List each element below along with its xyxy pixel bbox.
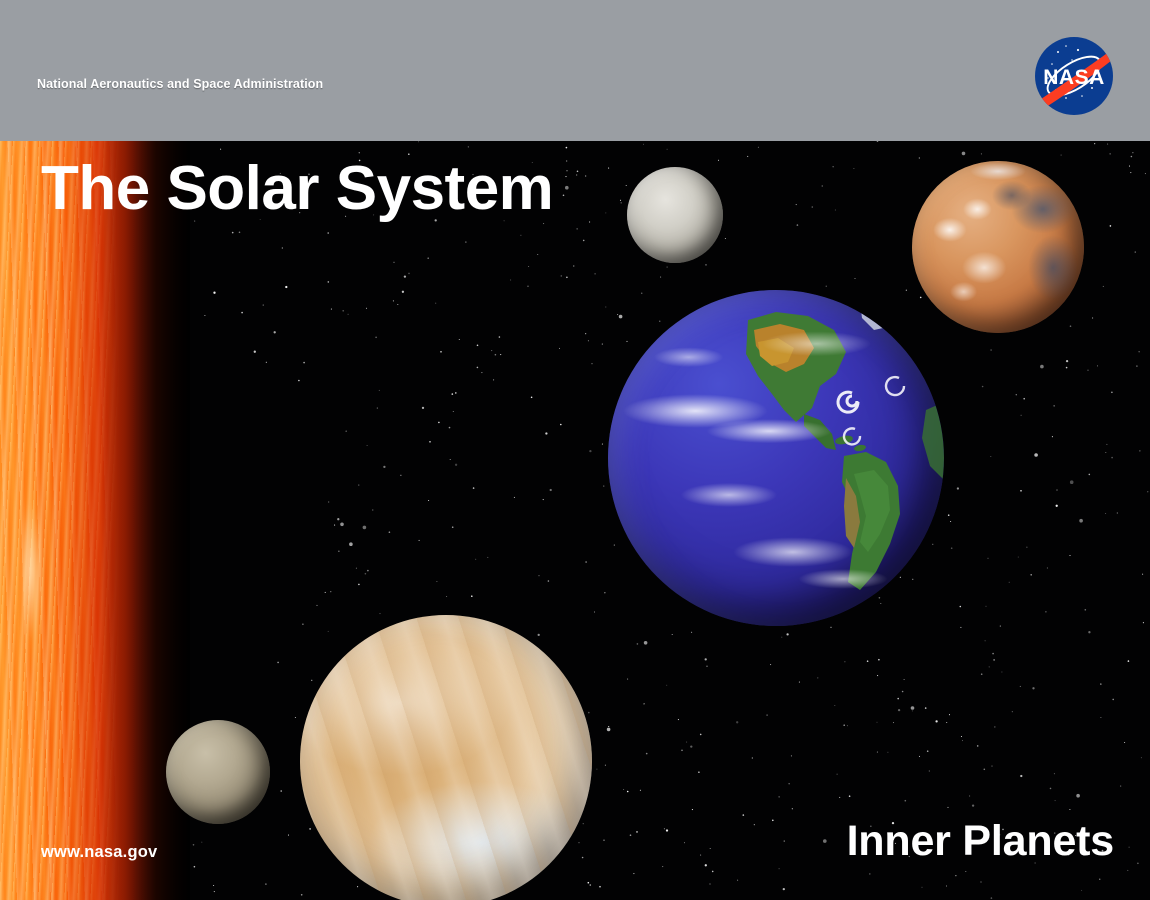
nasa-solar-system-poster: National Aeronautics and Space Administr… bbox=[0, 0, 1150, 900]
earth-storm-systems bbox=[608, 290, 944, 626]
website-url[interactable]: www.nasa.gov bbox=[41, 843, 157, 862]
planet-venus bbox=[300, 615, 592, 900]
planet-earth bbox=[608, 290, 944, 626]
sun-limb bbox=[0, 141, 190, 900]
nasa-logo-wordmark: NASA bbox=[1043, 66, 1105, 89]
sun-bright-flare bbox=[14, 441, 48, 701]
agency-name: National Aeronautics and Space Administr… bbox=[37, 77, 323, 91]
venus-cloud-bands bbox=[300, 615, 592, 900]
space-background bbox=[0, 141, 1150, 900]
moon-maria bbox=[627, 167, 723, 263]
nasa-meatball-logo[interactable]: NASA bbox=[1022, 24, 1126, 128]
planet-mars bbox=[912, 161, 1084, 333]
planet-mercury bbox=[166, 720, 270, 824]
header-band: National Aeronautics and Space Administr… bbox=[0, 0, 1150, 141]
mercury-craters bbox=[166, 720, 270, 824]
poster-subtitle: Inner Planets bbox=[847, 817, 1114, 866]
page-title: The Solar System bbox=[41, 158, 553, 220]
mars-surface-features bbox=[912, 161, 1084, 333]
earths-moon bbox=[627, 167, 723, 263]
